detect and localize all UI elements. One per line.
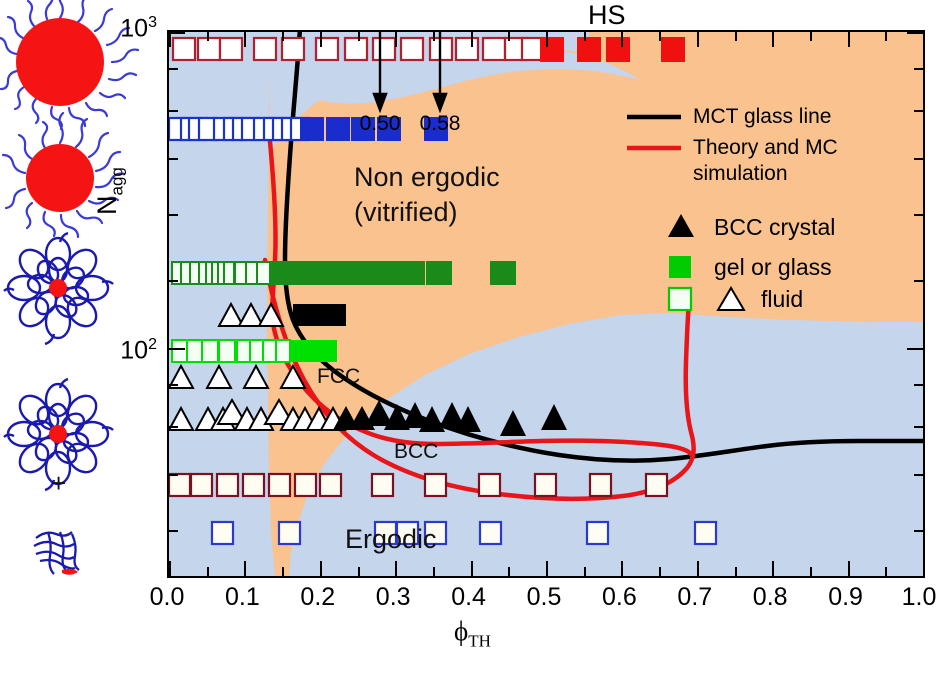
hs-value-058: 0.58 — [420, 112, 461, 136]
plot-area: Non ergodic (vitrified) Ergodic FCC BCC … — [167, 30, 925, 578]
phase-diagram-figure: + 103 102 Nagg — [0, 0, 945, 680]
bcc-bar-nagg130 — [293, 304, 346, 326]
x-tick-label-10: 1.0 — [902, 583, 937, 612]
legend-marker-fluid-triangle — [718, 288, 744, 310]
legend-label-gel: gel or glass — [714, 254, 832, 281]
x-tick-label-3: 0.3 — [376, 583, 411, 612]
gel-bar-nagg112 — [289, 340, 337, 362]
legend-label-mct: MCT glass line — [693, 105, 832, 129]
annotation-bcc: BCC — [394, 440, 438, 464]
x-tick-label-1: 0.1 — [225, 583, 260, 612]
series-nagg175 — [172, 261, 516, 285]
legend-marker-bcc — [668, 214, 694, 237]
x-tick-label-2: 0.2 — [300, 583, 335, 612]
legend-label-fluid: fluid — [761, 286, 803, 313]
unimer — [34, 532, 79, 575]
region-label-ergodic: Ergodic — [345, 524, 437, 555]
hs-label: HS — [588, 0, 626, 31]
series-nagg350 — [169, 117, 448, 141]
y-tick-label-100: 102 — [95, 336, 157, 365]
legend-label-theory-line2: simulation — [693, 162, 788, 186]
annotation-fcc: FCC — [317, 365, 360, 389]
x-tick-label-6: 0.6 — [602, 583, 637, 612]
series-nagg112 — [172, 340, 337, 362]
x-tick-label-5: 0.5 — [527, 583, 562, 612]
series-nagg27 — [212, 522, 716, 544]
x-axis-title: ϕTH — [0, 616, 945, 651]
x-tick-label-8: 0.8 — [753, 583, 788, 612]
x-axis-subscript: TH — [468, 631, 491, 650]
series-nagg95 — [169, 366, 305, 388]
legend-marker-gel — [669, 256, 691, 278]
x-axis-symbol: ϕ — [454, 616, 468, 646]
legend-marker-fluid-square — [669, 288, 691, 310]
series-nagg800 — [173, 37, 685, 62]
x-tick-label-7: 0.7 — [677, 583, 712, 612]
micelle-illustrations-svg: + — [0, 0, 160, 600]
hs-value-050: 0.50 — [360, 112, 401, 136]
plus-sign: + — [51, 468, 66, 498]
legend-label-bcc: BCC crystal — [714, 214, 835, 241]
legend-label-theory: Theory and MC — [693, 136, 838, 160]
region-label-nonergodic-line1: Non ergodic — [354, 162, 500, 193]
y-axis-title: Nagg — [92, 167, 127, 215]
small-core-dense-corona — [4, 233, 113, 344]
x-tick-label-9: 0.9 — [828, 583, 863, 612]
micelle-illustration-column: + — [0, 0, 160, 600]
x-tick-label-0: 0.0 — [150, 583, 185, 612]
x-tick-label-4: 0.4 — [451, 583, 486, 612]
region-label-nonergodic-line2: (vitrified) — [354, 197, 458, 228]
x-tick-labels: 0.0 0.1 0.2 0.3 0.4 0.5 0.6 0.7 0.8 0.9 … — [167, 583, 925, 613]
y-tick-label-1000: 103 — [95, 14, 157, 43]
